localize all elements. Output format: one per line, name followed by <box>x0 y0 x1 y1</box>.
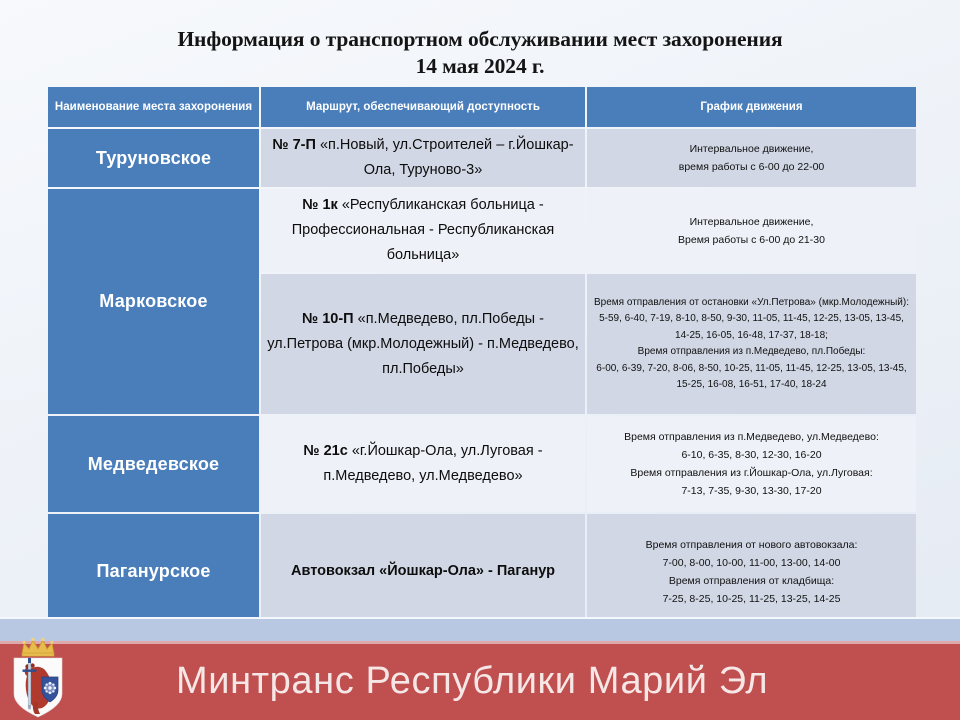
route-cell-1k: № 1к «Республиканская больница - Професс… <box>261 189 585 272</box>
table-row: Паганурское Автовокзал «Йошкар-Ола» - Па… <box>48 514 916 629</box>
table-header: Наименование места захоронения Маршрут, … <box>48 87 916 127</box>
table-body: Туруновское № 7-П «п.Новый, ул.Строителе… <box>48 129 916 629</box>
column-header-schedule: График движения <box>587 87 916 127</box>
route-cell-21s: № 21с «г.Йошкар-Ола, ул.Луговая - п.Медв… <box>261 416 585 512</box>
page-title-line-1: Информация о транспортном обслуживании м… <box>0 26 960 53</box>
route-description: «г.Йошкар-Ола, ул.Луговая - п.Медведево,… <box>323 443 542 484</box>
route-description: «п.Новый, ул.Строителей – г.Йошкар-Ола, … <box>320 137 574 178</box>
route-cell-10p: № 10-П «п.Медведево, пл.Победы - ул.Петр… <box>261 274 585 414</box>
route-number: № 10-П <box>302 311 354 327</box>
footer-accent-strip <box>0 617 960 641</box>
route-number: № 7-П <box>272 137 316 153</box>
schedule-cell-paganur: Время отправления от нового автовокзала:… <box>587 514 916 629</box>
schedule-cell-21s: Время отправления из п.Медведево, ул.Мед… <box>587 416 916 512</box>
schedule-cell-7p: Интервальное движение, время работы с 6-… <box>587 129 916 187</box>
column-header-place: Наименование места захоронения <box>48 87 259 127</box>
page-title: Информация о транспортном обслуживании м… <box>0 26 960 80</box>
route-cell-7p: № 7-П «п.Новый, ул.Строителей – г.Йошкар… <box>261 129 585 187</box>
crown-icon <box>22 638 54 656</box>
place-cell-turunovskoe: Туруновское <box>48 129 259 187</box>
route-description: Автовокзал «Йошкар-Ола» - Паганур <box>291 563 555 579</box>
table-row: Марковское № 1к «Республиканская больниц… <box>48 189 916 272</box>
coat-of-arms-icon <box>8 636 68 720</box>
place-cell-paganurskoe: Паганурское <box>48 514 259 629</box>
column-header-route: Маршрут, обеспечивающий доступность <box>261 87 585 127</box>
page-title-line-2: 14 мая 2024 г. <box>0 53 960 80</box>
place-cell-markovskoe: Марковское <box>48 189 259 414</box>
route-number: № 1к <box>302 197 338 213</box>
place-cell-medvedevskoe: Медведевское <box>48 416 259 512</box>
route-number: № 21с <box>303 443 347 459</box>
table-header-row: Наименование места захоронения Маршрут, … <box>48 87 916 127</box>
table-row: Медведевское № 21с «г.Йошкар-Ола, ул.Луг… <box>48 416 916 512</box>
schedule-cell-1k: Интервальное движение, Время работы с 6-… <box>587 189 916 272</box>
footer-title: Минтранс Республики Марий Эл <box>176 660 768 703</box>
table-row: Туруновское № 7-П «п.Новый, ул.Строителе… <box>48 129 916 187</box>
schedule-cell-10p: Время отправления от остановки «Ул.Петро… <box>587 274 916 414</box>
burial-sites-transport-table: Наименование места захоронения Маршрут, … <box>46 85 918 631</box>
route-cell-paganur: Автовокзал «Йошкар-Ола» - Паганур <box>261 514 585 629</box>
